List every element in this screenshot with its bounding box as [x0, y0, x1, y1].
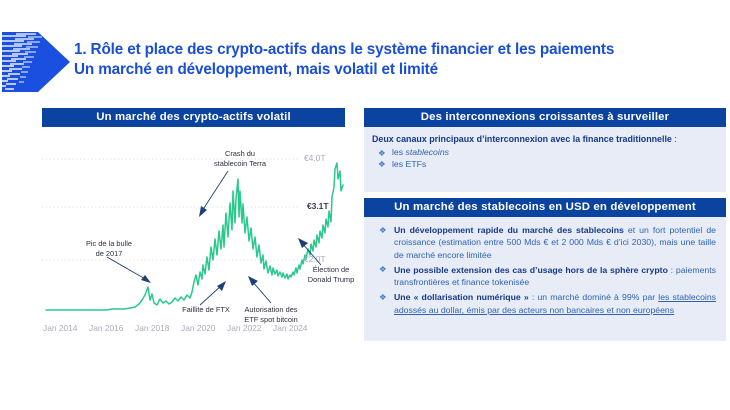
list-item: ❖ les ETFs [372, 159, 718, 171]
diamond-bullet-icon: ❖ [379, 263, 387, 275]
interconnexions-lead-suffix: : [672, 134, 677, 144]
x-axis-label-2: Jan 2018 [135, 323, 181, 333]
x-axis-label-3: Jan 2020 [181, 323, 227, 333]
x-axis-label-5: Jan 2024 [273, 323, 319, 333]
annotation-crash-terra-line1: Crash du [225, 149, 255, 158]
annotation-election-trump-line2: Donald Trump [308, 275, 354, 284]
interconnexions-panel: Des interconnexions croissantes à survei… [364, 108, 726, 192]
crypto-market-cap-chart: €4.0T €3.1T €2.0T Pic de la bulle de 201… [42, 127, 345, 359]
y-axis-label-3-1t: €3.1T [307, 201, 328, 211]
list-item: ❖ les stablecoins [372, 147, 718, 159]
interconnexions-bullet-list: ❖ les stablecoins ❖ les ETFs [372, 147, 718, 170]
bullet-text-prefix: les ETFs [392, 159, 426, 169]
annotation-etf-spot-bitcoin: Autorisation des ETF spot bitcoin [224, 305, 318, 324]
bullet-text-italic: stablecoins [406, 147, 449, 157]
bullet-rest: : un marché dominé à 99% par [529, 292, 659, 302]
interconnexions-panel-body: Deux canaux principaux d’interconnexion … [364, 127, 726, 192]
interconnexions-panel-header: Des interconnexions croissantes à survei… [364, 108, 726, 127]
diamond-bullet-icon: ❖ [378, 147, 386, 159]
y-axis-label-4-0t: €4.0T [304, 153, 325, 163]
annotation-crash-terra-line2: stablecoin Terra [214, 159, 266, 168]
annotation-arrow-etf-spot-bitcoin [245, 273, 279, 307]
bullet-bold-lead: Une possible extension des cas d’usage h… [394, 265, 668, 275]
annotation-arrow-crash-terra [194, 169, 234, 221]
annotation-crash-terra: Crash du stablecoin Terra [197, 149, 283, 168]
bullet-text-prefix: les [392, 147, 406, 157]
annotation-arrow-election-trump [295, 235, 329, 269]
bullet-developpement-rapide: ❖ Un développement rapide du marché des … [372, 224, 716, 261]
bullet-bold-lead: Une « dollarisation numérique » [394, 292, 529, 302]
chart-plot [42, 127, 345, 323]
stablecoins-panel-header: Un marché des stablecoins en USD en déve… [364, 198, 726, 217]
stablecoins-panel: Un marché des stablecoins en USD en déve… [364, 198, 726, 341]
interconnexions-lead: Deux canaux principaux d’interconnexion … [372, 133, 718, 146]
stablecoins-bullet-list: ❖ Un développement rapide du marché des … [372, 224, 716, 316]
page-title: 1. Rôle et place des crypto-actifs dans … [74, 40, 724, 80]
interconnexions-lead-text: Deux canaux principaux d’interconnexion … [372, 134, 672, 144]
diamond-bullet-icon: ❖ [379, 291, 387, 303]
bullet-dollarisation-numerique: ❖ Une « dollarisation numérique » : un m… [372, 291, 716, 316]
x-axis-label-1: Jan 2016 [89, 323, 135, 333]
annotation-arrow-pic-bulle [105, 255, 157, 287]
bullet-bold-lead: Un développement rapide du marché des st… [394, 225, 624, 235]
page-title-line-2: Un marché en développement, mais volatil… [74, 60, 724, 80]
x-axis-labels: Jan 2014 Jan 2016 Jan 2018 Jan 2020 Jan … [42, 323, 346, 333]
stablecoins-panel-body: ❖ Un développement rapide du marché des … [364, 217, 726, 341]
annotation-pic-bulle-2017-line1: Pic de la bulle [86, 239, 132, 248]
striped-chevron-logo [2, 26, 74, 98]
chart-panel: Un marché des crypto-actifs volatil €4.0… [42, 108, 345, 359]
diamond-bullet-icon: ❖ [379, 224, 387, 236]
page-title-line-1: 1. Rôle et place des crypto-actifs dans … [74, 40, 724, 60]
chart-panel-header: Un marché des crypto-actifs volatil [42, 108, 345, 127]
diamond-bullet-icon: ❖ [378, 158, 386, 170]
bullet-extension-cas-usage: ❖ Une possible extension des cas d’usage… [372, 264, 716, 289]
x-axis-label-0: Jan 2014 [43, 323, 89, 333]
x-axis-label-4: Jan 2022 [227, 323, 273, 333]
